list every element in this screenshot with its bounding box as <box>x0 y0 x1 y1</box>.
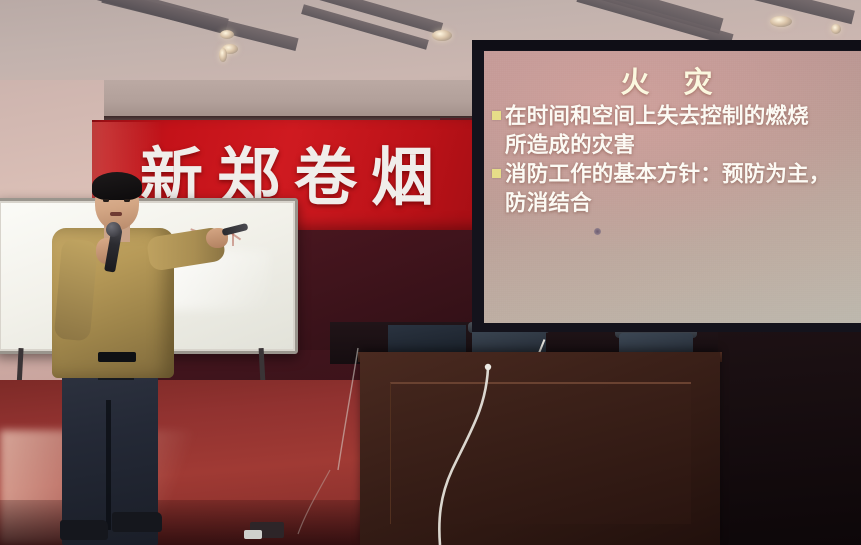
floor-object <box>244 530 262 539</box>
ceiling-light <box>220 30 234 39</box>
presenter-hair <box>92 172 142 200</box>
bullet-line: 在时间和空间上失去控制的燃烧 <box>505 103 861 131</box>
ceiling-light <box>219 48 227 62</box>
bullet-line: 所造成的灾害 <box>505 132 861 160</box>
presentation-photo-scene: 新郑卷烟 火 灾 在时间和空间上失去控制的燃烧 <box>0 0 861 545</box>
slide-bullet-continuation: 所造成的灾害 <box>492 132 861 160</box>
microphone-head <box>106 222 121 237</box>
stage-right-panel <box>718 330 861 545</box>
bullet-line: 消防工作的基本方针：预防为主， <box>505 161 861 189</box>
projection-screen-top-bar <box>472 40 861 50</box>
bullet-square-icon <box>492 111 501 120</box>
ceiling-light <box>770 16 792 27</box>
presenter-mouth <box>110 212 122 216</box>
presenter-shoe <box>112 512 162 532</box>
presenter-belt <box>98 352 136 362</box>
slide-bullet-continuation: 防消结合 <box>492 190 861 218</box>
podium-front-panel <box>390 382 691 524</box>
presenter-eye <box>124 199 130 202</box>
presenter-shoe <box>60 520 108 540</box>
ceiling-light <box>432 30 452 41</box>
bullet-square-icon <box>492 169 501 178</box>
slide-bullet: 在时间和空间上失去控制的燃烧 <box>492 103 861 131</box>
presenter-leg-gap <box>106 400 111 530</box>
slide-bullet: 消防工作的基本方针：预防为主， <box>492 161 861 189</box>
slide-title: 火 灾 <box>484 59 861 101</box>
projection-screen: 火 灾 在时间和空间上失去控制的燃烧 所造成的灾害 消防工作的基本方针：预防为主… <box>484 51 861 323</box>
slide-body: 在时间和空间上失去控制的燃烧 所造成的灾害 消防工作的基本方针：预防为主， 防消… <box>492 103 861 219</box>
mouse-cursor-icon[interactable] <box>594 228 601 235</box>
presenter-eye <box>103 199 109 202</box>
sprinkler-head <box>831 24 841 34</box>
bullet-line: 防消结合 <box>505 190 861 218</box>
